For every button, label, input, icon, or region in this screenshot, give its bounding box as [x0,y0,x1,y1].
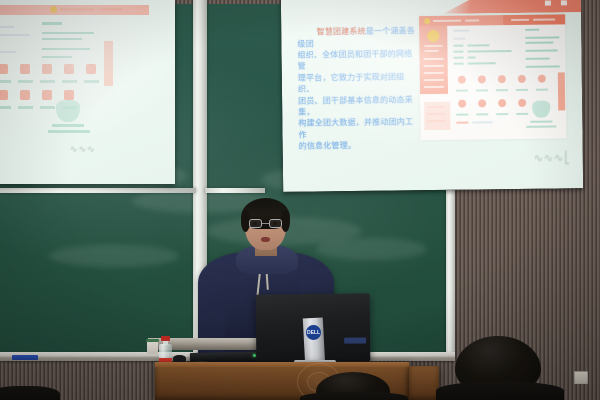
audience-silhouette-left [0,386,60,400]
left-projection-screen: ∿∿∿ [0,0,175,184]
paper-cup-lid [146,339,159,342]
presenter-mouth [261,237,270,242]
blackboard-eraser[interactable] [12,355,38,360]
wall-power-outlet[interactable] [574,371,588,384]
presenter-glasses-bridge [262,223,269,224]
slide-watermark: ∿∿∿ [70,144,96,155]
left-screen-surface: ∿∿∿ [0,0,175,184]
presenter-eye-right [273,222,277,225]
dashboard-logo-badge [50,6,57,13]
dashboard-vertical-tag [558,72,565,110]
audience-shoulders-right [436,382,564,400]
slide-body-text: 智慧团建系统是一个涵盖各级团 组织、全体团员和团干部的网络管 理平台，它致力于实… [297,14,417,163]
slide-heading-highlight: 智慧团建系统 [317,27,366,37]
dashboard-screenshot [419,14,567,140]
monitor-port-strip [344,337,366,343]
podium-side-block [409,366,439,400]
chalkboard-divider-right [205,188,265,193]
slide-body-remainder: 是一个涵盖各级团 组织、全体团员和团干部的网络管 理平台，它致力于实现对团组织、… [297,27,415,151]
dashboard-security-shield-icon [532,101,550,118]
paper-cup[interactable] [147,341,158,354]
dashboard-logo-icon [424,18,430,24]
audience-shoulders-center [300,392,408,400]
podium-top-edge [155,362,409,367]
right-projection-screen: 智慧团建系统是一个涵盖各级团 组织、全体团员和团干部的网络管 理平台，它致力于实… [281,0,583,192]
chalkboard-right-edge [446,190,455,355]
dashboard-side-tag [104,41,113,86]
presenter-hair-right [281,210,290,232]
classroom-scene: ∿∿∿ 智慧团建系统是一个涵盖各级团 组织、全体团员和团干部的网络管 理平台，它… [0,0,600,400]
dell-logo: DELL [306,325,321,340]
right-screen-surface: 智慧团建系统是一个涵盖各级团 组织、全体团员和团干部的网络管 理平台，它致力于实… [281,0,583,192]
dashboard-shield-icon [56,100,80,122]
chalkboard-divider-left [0,188,196,193]
presenter-eye-left [253,222,257,225]
slide-footer-watermark: ∿∿∿⎣ [534,151,571,164]
dashboard-avatar [427,30,439,42]
